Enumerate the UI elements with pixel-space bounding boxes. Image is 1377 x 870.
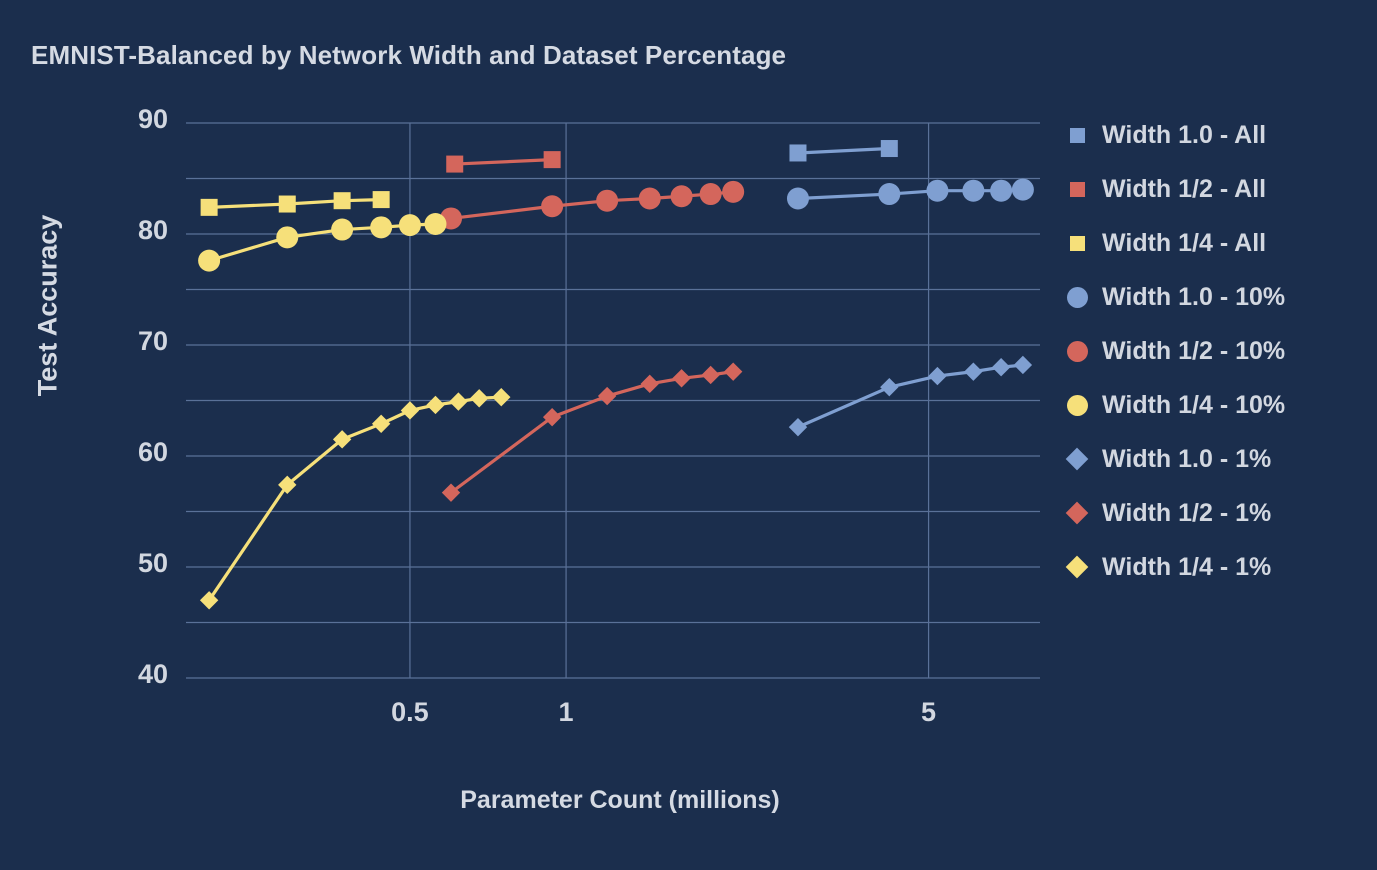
data-point (470, 389, 488, 407)
chart-legend: Width 1.0 - AllWidth 1/2 - AllWidth 1/4 … (1064, 108, 1285, 594)
legend-item-label: Width 1.0 - All (1102, 121, 1266, 150)
diamond-marker-icon (1064, 554, 1090, 580)
y-tick-label: 80 (98, 215, 168, 246)
data-point (881, 140, 898, 157)
legend-item-5[interactable]: Width 1/4 - 10% (1064, 378, 1285, 432)
data-point (641, 375, 659, 393)
data-point (671, 185, 693, 207)
data-point (372, 415, 390, 433)
data-point (598, 387, 616, 405)
data-point (1012, 179, 1034, 201)
legend-item-8[interactable]: Width 1/4 - 1% (1064, 540, 1285, 594)
y-tick-label: 70 (98, 326, 168, 357)
legend-item-label: Width 1.0 - 10% (1102, 283, 1285, 312)
legend-item-4[interactable]: Width 1/2 - 10% (1064, 324, 1285, 378)
data-point (544, 151, 561, 168)
data-point (200, 591, 218, 609)
data-point (639, 187, 661, 209)
circle-marker-icon (1064, 338, 1090, 364)
data-point (789, 418, 807, 436)
y-tick-label: 60 (98, 437, 168, 468)
series-8 (200, 388, 511, 610)
data-point (370, 216, 392, 238)
legend-item-label: Width 1/4 - 10% (1102, 391, 1285, 420)
series-line (451, 372, 733, 493)
data-point (401, 401, 419, 419)
data-point (331, 219, 353, 241)
data-point (492, 388, 510, 406)
diamond-marker-icon (1064, 500, 1090, 526)
chart-container: EMNIST-Balanced by Network Width and Dat… (0, 0, 1377, 870)
data-point (789, 144, 806, 161)
legend-item-label: Width 1/4 - 1% (1102, 553, 1271, 582)
data-point (424, 213, 446, 235)
square-marker-icon (1064, 230, 1090, 256)
series-line (455, 160, 552, 164)
series-3 (787, 179, 1034, 210)
data-point (426, 396, 444, 414)
data-point (1014, 356, 1032, 374)
data-point (449, 392, 467, 410)
data-point (880, 378, 898, 396)
legend-item-2[interactable]: Width 1/4 - All (1064, 216, 1285, 270)
circle-marker-icon (1064, 392, 1090, 418)
legend-item-label: Width 1/2 - 10% (1102, 337, 1285, 366)
data-point (962, 180, 984, 202)
series-6 (789, 356, 1032, 437)
series-1 (446, 151, 560, 172)
data-point (446, 156, 463, 173)
y-tick-label: 40 (98, 659, 168, 690)
series-line (798, 190, 1023, 199)
square-marker-icon (1064, 176, 1090, 202)
data-point (334, 192, 351, 209)
series-line (798, 149, 889, 153)
series-7 (442, 362, 743, 501)
circle-marker-icon (1064, 284, 1090, 310)
data-point (541, 195, 563, 217)
x-tick-label: 5 (889, 697, 969, 728)
data-point (787, 187, 809, 209)
data-point (926, 180, 948, 202)
data-point (700, 183, 722, 205)
legend-item-7[interactable]: Width 1/2 - 1% (1064, 486, 1285, 540)
data-point (279, 196, 296, 213)
x-tick-label: 0.5 (370, 697, 450, 728)
series-layer (198, 140, 1034, 609)
series-line (209, 397, 501, 600)
data-point (964, 362, 982, 380)
data-point (878, 183, 900, 205)
series-2 (201, 191, 390, 216)
y-tick-label: 50 (98, 548, 168, 579)
series-0 (789, 140, 897, 161)
legend-item-label: Width 1/4 - All (1102, 229, 1266, 258)
legend-item-6[interactable]: Width 1.0 - 1% (1064, 432, 1285, 486)
legend-item-3[interactable]: Width 1.0 - 10% (1064, 270, 1285, 324)
data-point (198, 250, 220, 272)
data-point (928, 367, 946, 385)
legend-item-0[interactable]: Width 1.0 - All (1064, 108, 1285, 162)
x-tick-label: 1 (526, 697, 606, 728)
data-point (722, 181, 744, 203)
series-line (798, 365, 1023, 427)
legend-item-label: Width 1.0 - 1% (1102, 445, 1271, 474)
square-marker-icon (1064, 122, 1090, 148)
data-point (373, 191, 390, 208)
data-point (724, 362, 742, 380)
series-4 (440, 181, 744, 230)
legend-item-label: Width 1/2 - All (1102, 175, 1266, 204)
diamond-marker-icon (1064, 446, 1090, 472)
data-point (276, 226, 298, 248)
y-tick-label: 90 (98, 104, 168, 135)
series-5 (198, 213, 446, 272)
data-point (201, 199, 218, 216)
legend-item-label: Width 1/2 - 1% (1102, 499, 1271, 528)
data-point (596, 190, 618, 212)
data-point (672, 369, 690, 387)
data-point (990, 180, 1012, 202)
data-point (701, 366, 719, 384)
data-point (992, 358, 1010, 376)
data-point (399, 214, 421, 236)
legend-item-1[interactable]: Width 1/2 - All (1064, 162, 1285, 216)
